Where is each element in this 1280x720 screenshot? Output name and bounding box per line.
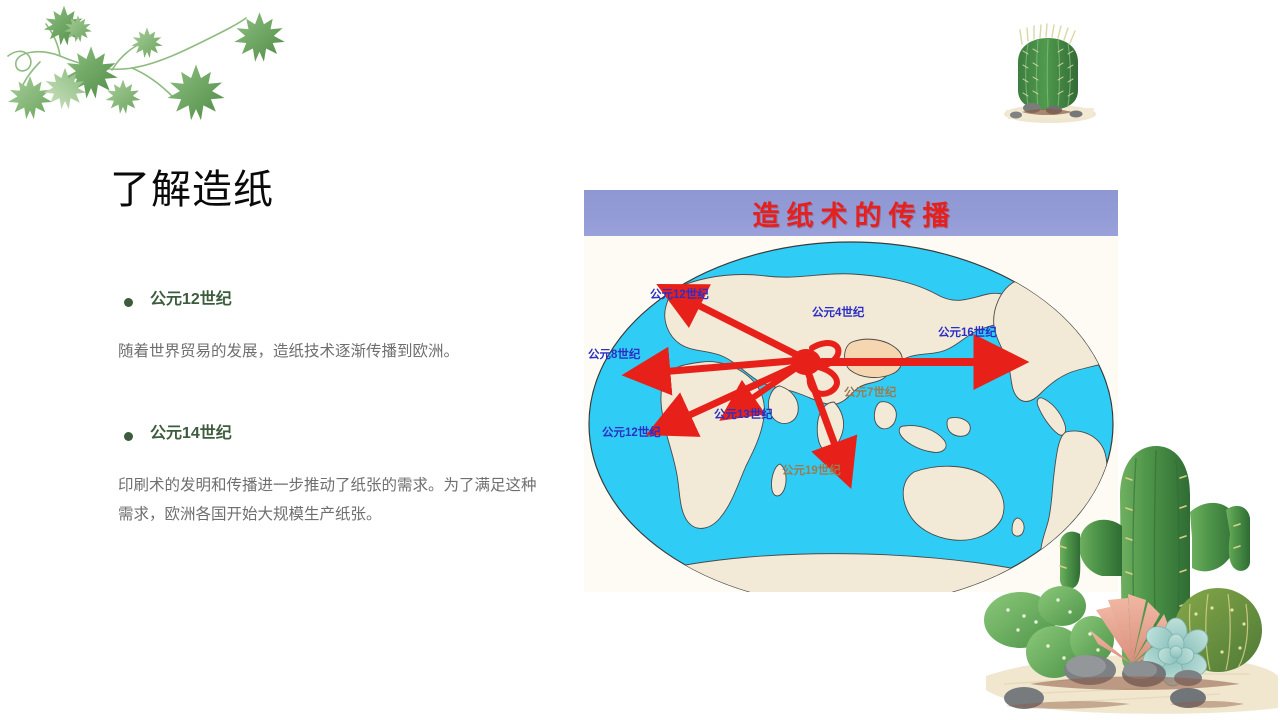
bullet-heading-text: 公元14世纪 <box>150 425 232 442</box>
bullet-block-2: 公元14世纪 印刷术的发明和传播进一步推动了纸张的需求。为了满足这种需求，欧洲各… <box>118 426 548 443</box>
bullet-heading-1: 公元12世纪 <box>118 292 270 309</box>
page-title: 了解造纸 <box>110 167 274 213</box>
bullet-dot-icon <box>124 298 133 307</box>
leaves-decoration <box>0 0 330 140</box>
bullet-heading-text: 公元12世纪 <box>150 291 232 308</box>
slide-canvas: 了解造纸 公元12世纪 随着世界贸易的发展，造纸技术逐渐传播到欧洲。 公元14世… <box>0 0 1280 720</box>
barrel-cactus-icon <box>988 22 1108 130</box>
map-banner-title: 造纸术的传播 <box>746 194 957 233</box>
bullet-body-1: 随着世界贸易的发展，造纸技术逐渐传播到欧洲。 <box>118 337 548 366</box>
bullet-dot-icon <box>124 432 133 441</box>
bullet-body-2: 印刷术的发明和传播进一步推动了纸张的需求。为了满足这种需求，欧洲各国开始大规模生… <box>118 471 548 529</box>
map-banner: 造纸术的传播 <box>584 190 1118 236</box>
bullet-heading-2: 公元14世纪 <box>118 426 270 443</box>
desert-cactus-decoration <box>980 408 1280 720</box>
bullet-block-1: 公元12世纪 随着世界贸易的发展，造纸技术逐渐传播到欧洲。 <box>118 292 548 309</box>
